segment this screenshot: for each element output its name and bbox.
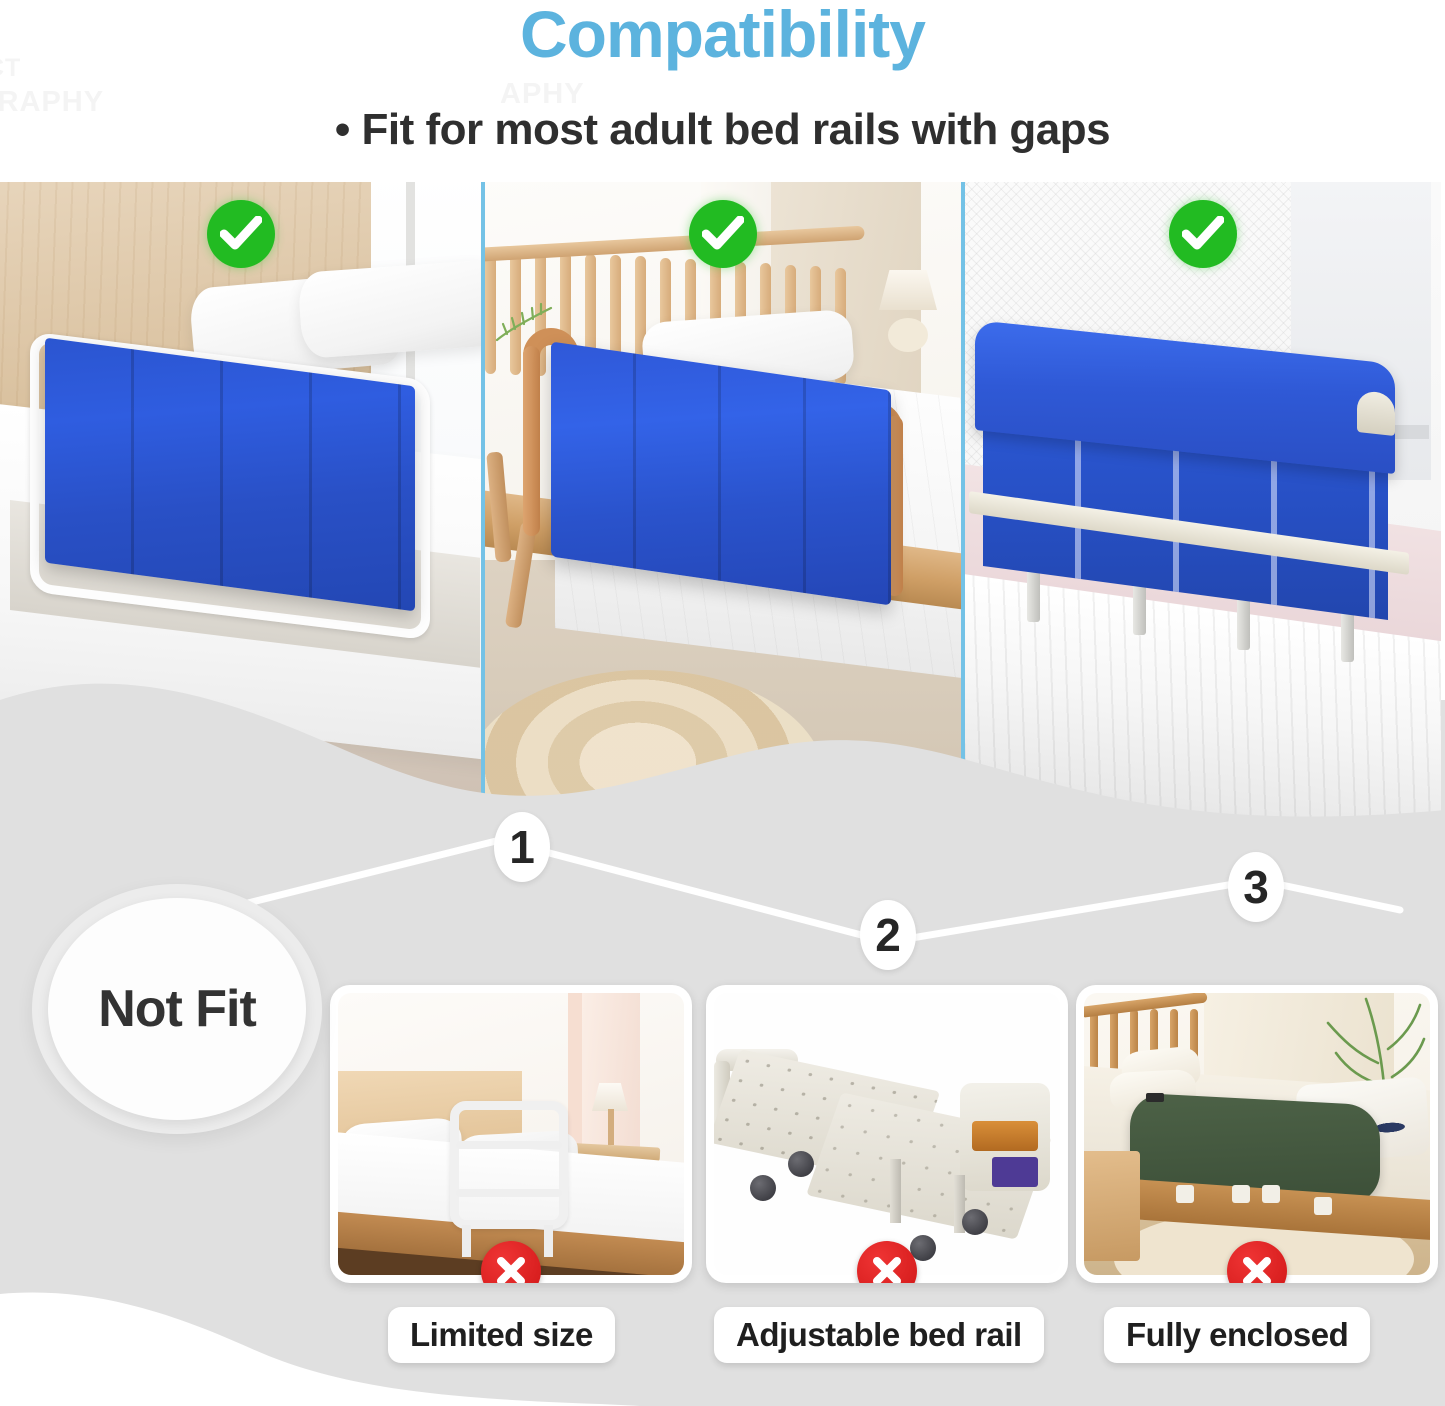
step-number-3: 3	[1228, 852, 1284, 922]
not-fit-badge-face: Not Fit	[48, 898, 306, 1120]
caption-chip-fully-enclosed: Fully enclosed	[1104, 1307, 1370, 1363]
card1-rail-bar-upper	[456, 1141, 562, 1149]
card3-rail-clip-1	[1176, 1185, 1194, 1203]
card2-control-module	[992, 1157, 1038, 1187]
not-fit-card-2-photo	[714, 993, 1060, 1275]
card3-rail-clip-4	[1314, 1197, 1332, 1215]
page-title: Compatibility	[0, 0, 1445, 72]
header-section: CT GRAPHY APHY Compatibility • Fit for m…	[0, 0, 1445, 182]
card1-short-metal-rail	[450, 1101, 568, 1229]
green-check-circle-icon	[689, 200, 757, 268]
panel2-lamp-base	[888, 318, 928, 352]
card3-nightstand	[1084, 1151, 1140, 1261]
green-check-circle-icon	[1169, 200, 1237, 268]
card3-rail-brand-tag	[1146, 1093, 1164, 1102]
card3-rail-clip-2	[1232, 1185, 1250, 1203]
card1-rail-leg-left	[462, 1225, 471, 1257]
not-fit-label: Not Fit	[98, 979, 256, 1039]
card2-side-rail-left	[719, 1103, 773, 1172]
product-infographic: CT GRAPHY APHY Compatibility • Fit for m…	[0, 0, 1445, 1406]
not-fit-badge: Not Fit	[32, 884, 322, 1134]
green-check-circle-icon	[207, 200, 275, 268]
card1-rail-bar-lower	[456, 1189, 562, 1197]
not-fit-card-1-photo	[338, 993, 684, 1275]
panel1-pillow-right	[297, 259, 481, 359]
caption-chip-adjustable-bed-rail: Adjustable bed rail	[714, 1307, 1044, 1363]
card2-caster-back	[788, 1151, 814, 1177]
card3-rail-clip-3	[1262, 1185, 1280, 1203]
panel2-grab-bar-left	[523, 346, 540, 536]
step-number-1: 1	[494, 812, 550, 882]
page-subtitle: • Fit for most adult bed rails with gaps	[0, 105, 1445, 155]
step-number-2: 2	[860, 900, 916, 970]
card2-caster-right	[962, 1209, 988, 1235]
not-fit-card-3-photo	[1084, 993, 1430, 1275]
card1-rail-leg-right	[544, 1225, 553, 1257]
card2-bed-leg-left	[890, 1159, 901, 1223]
card1-lamp-post	[608, 1109, 614, 1145]
bottom-left-wave	[0, 1286, 640, 1406]
card2-foot-board-wood-inlay	[972, 1121, 1038, 1151]
card2-caster-left	[750, 1175, 776, 1201]
